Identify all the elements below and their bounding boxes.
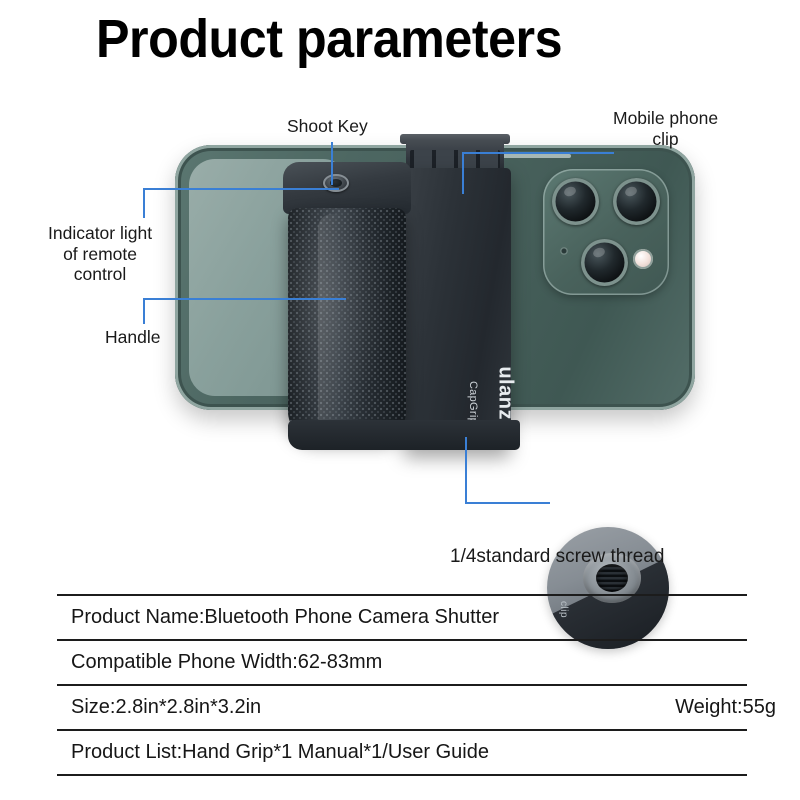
leader-line-indicator-vertical [143, 188, 145, 218]
camera-flash-icon [633, 249, 653, 269]
spec-product-name: Product Name:Bluetooth Phone Camera Shut… [57, 606, 499, 629]
camera-microphone-icon [560, 247, 568, 255]
grip-handle [288, 208, 406, 438]
callout-screw-thread: 1/4standard screw thread [450, 546, 664, 568]
brand-label: ulanzi [494, 366, 517, 426]
spec-table: Product Name:Bluetooth Phone Camera Shut… [57, 594, 747, 776]
camera-lens-icon [552, 178, 599, 225]
handle-highlight [318, 214, 348, 432]
spec-product-list: Product List:Hand Grip*1 Manual*1/User G… [57, 741, 489, 764]
spec-size: Size:2.8in*2.8in*3.2in [57, 696, 261, 719]
page-title: Product parameters [96, 8, 562, 70]
leader-line-mobile-clip-horizontal [462, 152, 614, 154]
table-row: Product List:Hand Grip*1 Manual*1/User G… [57, 729, 747, 776]
leader-line-indicator-horizontal [143, 188, 339, 190]
leader-line-mobile-clip-vertical [462, 152, 464, 194]
spec-weight: Weight:55g [675, 696, 776, 719]
grip-back-plate: ulanzi CapGrip [403, 168, 511, 450]
leader-line-screw-vertical [465, 437, 467, 503]
table-row: Product Name:Bluetooth Phone Camera Shut… [57, 594, 747, 639]
camera-lens-icon [613, 178, 660, 225]
leader-line-shoot-key [331, 142, 333, 185]
callout-mobile-phone-clip: Mobile phone clip [613, 108, 718, 149]
callout-shoot-key: Shoot Key [287, 116, 368, 137]
leader-line-handle-horizontal [143, 298, 346, 300]
table-row: Compatible Phone Width:62-83mm [57, 639, 747, 684]
model-label: CapGrip [467, 381, 479, 424]
leader-line-screw-horizontal [465, 502, 550, 504]
callout-handle: Handle [105, 327, 160, 348]
camera-module [543, 169, 669, 295]
spec-compatible-width: Compatible Phone Width:62-83mm [57, 651, 382, 674]
camera-lens-icon [581, 239, 628, 286]
leader-line-handle-vertical [143, 298, 145, 324]
table-row: Size:2.8in*2.8in*3.2in Weight:55g [57, 684, 747, 729]
callout-indicator-light: Indicator light of remote control [48, 223, 152, 285]
grip-base [288, 420, 520, 450]
